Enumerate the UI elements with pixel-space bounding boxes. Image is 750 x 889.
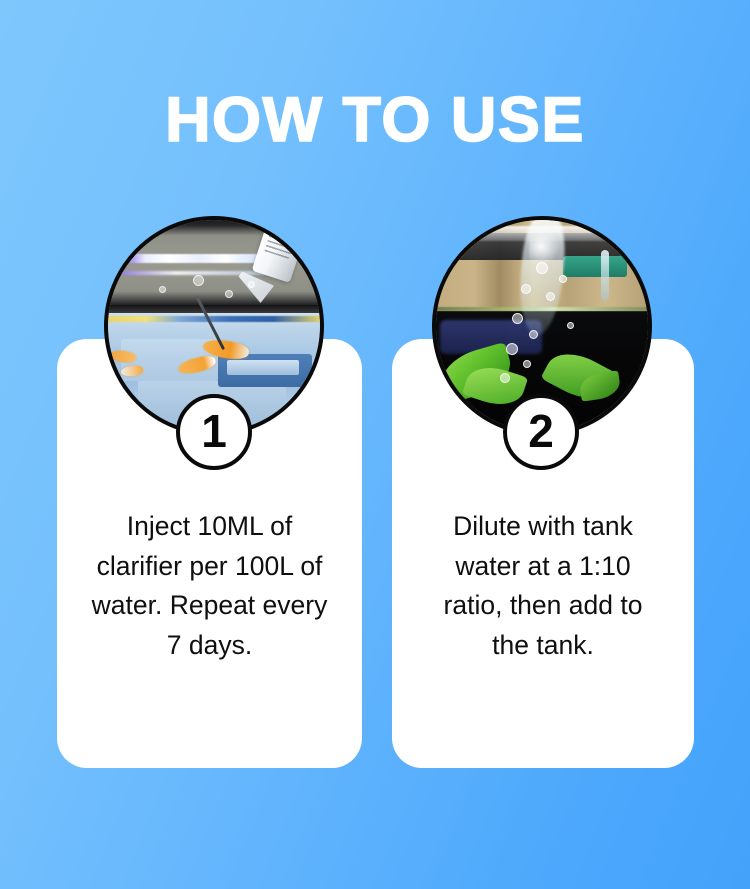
bubble-icon <box>521 284 531 294</box>
tank-decor-highlight <box>227 360 299 375</box>
how-to-use-poster: HOW TO USE Inject 10ML of clarifier per … <box>0 0 750 889</box>
bubble-icon <box>536 262 548 274</box>
led-light-strip-icon <box>112 254 277 263</box>
bubble-icon <box>506 343 518 355</box>
clear-tube <box>601 250 609 301</box>
bubble-icon <box>500 373 510 383</box>
tank-rim <box>108 305 320 313</box>
bubble-icon <box>193 275 204 286</box>
step-1-number-badge: 1 <box>176 394 252 470</box>
step-2-number: 2 <box>528 408 554 454</box>
step-1-text: Inject 10ML of clarifier per 100L of wat… <box>85 507 335 665</box>
step-1-number: 1 <box>201 408 227 454</box>
step-2-number-badge: 2 <box>503 394 579 470</box>
green-equipment <box>563 256 627 277</box>
step-2-text: Dilute with tank water at a 1:10 ratio, … <box>424 507 662 665</box>
bubble-icon <box>225 290 233 298</box>
page-title: HOW TO USE <box>0 84 750 156</box>
bubble-icon <box>159 286 166 293</box>
water-surface-band <box>108 316 320 322</box>
bubble-icon <box>523 360 531 368</box>
